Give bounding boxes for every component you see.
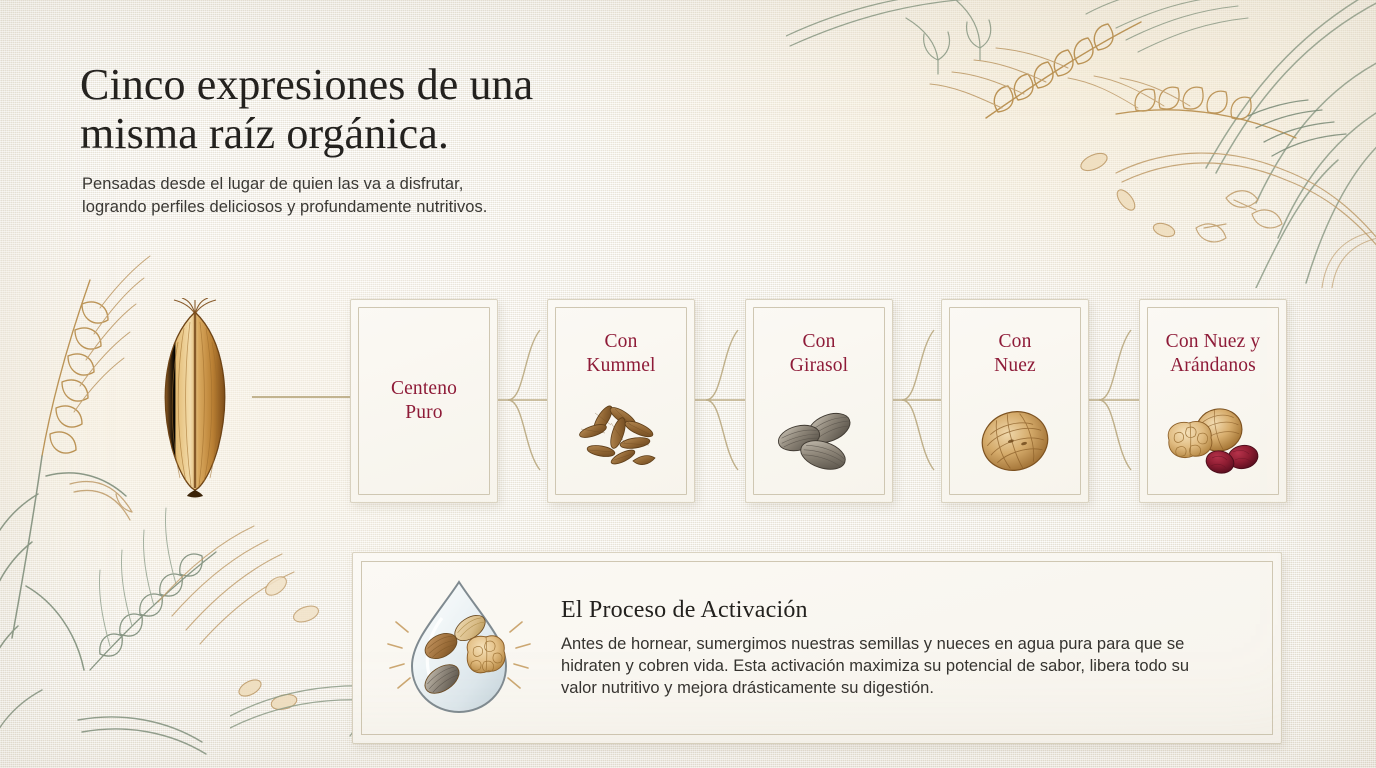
branch-connector-3 bbox=[884, 286, 944, 514]
panel-figure bbox=[361, 561, 557, 735]
walnut-icon bbox=[942, 404, 1088, 476]
wheat-botanical-decoration-top-right bbox=[786, 0, 1376, 288]
variant-card-con-nuez[interactable]: Con Nuez bbox=[941, 299, 1089, 503]
variant-card-centeno-puro[interactable]: Centeno Puro bbox=[350, 299, 498, 503]
panel-description: Antes de hornear, sumergimos nuestras se… bbox=[561, 633, 1221, 699]
variant-card-title: Con Kummel bbox=[560, 330, 682, 378]
variant-card-title: Centeno Puro bbox=[363, 300, 485, 502]
variant-card-title: Con Nuez bbox=[954, 330, 1076, 378]
water-droplet-with-seeds-icon bbox=[384, 574, 534, 722]
branch-connector-2 bbox=[688, 286, 748, 514]
variant-card-title: Con Girasol bbox=[758, 330, 880, 378]
sunflower-seeds-icon bbox=[746, 404, 892, 476]
variant-card-con-nuez-y-arandanos[interactable]: Con Nuez y Arándanos bbox=[1139, 299, 1287, 503]
variant-card-con-kummel[interactable]: Con Kummel bbox=[547, 299, 695, 503]
variant-card-title: Con Nuez y Arándanos bbox=[1152, 330, 1274, 378]
rye-grain-kernel-icon bbox=[150, 298, 240, 498]
variant-card-con-girasol[interactable]: Con Girasol bbox=[745, 299, 893, 503]
branch-connector-4 bbox=[1081, 286, 1141, 514]
page-subtitle: Pensadas desde el lugar de quien las va … bbox=[82, 173, 720, 220]
panel-heading: El Proceso de Activación bbox=[561, 597, 1241, 624]
walnut-and-cranberries-icon bbox=[1140, 404, 1286, 476]
activation-process-panel: El Proceso de Activación Antes de hornea… bbox=[352, 552, 1282, 744]
header: Cinco expresiones de una misma raíz orgá… bbox=[80, 60, 720, 219]
page-title: Cinco expresiones de una misma raíz orgá… bbox=[80, 60, 720, 159]
branch-connector-1 bbox=[490, 286, 550, 514]
diagram-trunk-line bbox=[252, 396, 352, 398]
product-variants-diagram: Centeno Puro Con Kummel bbox=[0, 286, 1376, 514]
caraway-seeds-icon bbox=[548, 404, 694, 476]
